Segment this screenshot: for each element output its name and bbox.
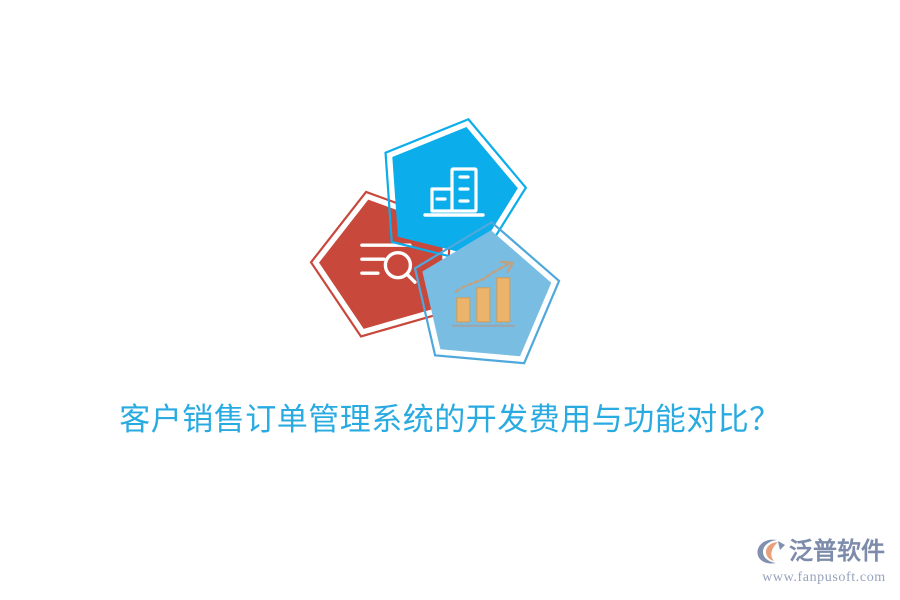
watermark-url: www.fanpusoft.com: [756, 569, 892, 586]
page-canvas: 客户销售订单管理系统的开发费用与功能对比？ 泛普软件 www.fanpusoft…: [0, 0, 900, 600]
page-title: 客户销售订单管理系统的开发费用与功能对比？: [0, 398, 900, 442]
fanpu-logo-mark: [756, 537, 786, 565]
hero-pentagon-cluster: [295, 120, 565, 375]
watermark-brand-name: 泛普软件: [789, 537, 885, 565]
watermark-logo: 泛普软件 www.fanpusoft.com: [756, 534, 892, 590]
watermark-brand-row: 泛普软件: [756, 534, 892, 568]
